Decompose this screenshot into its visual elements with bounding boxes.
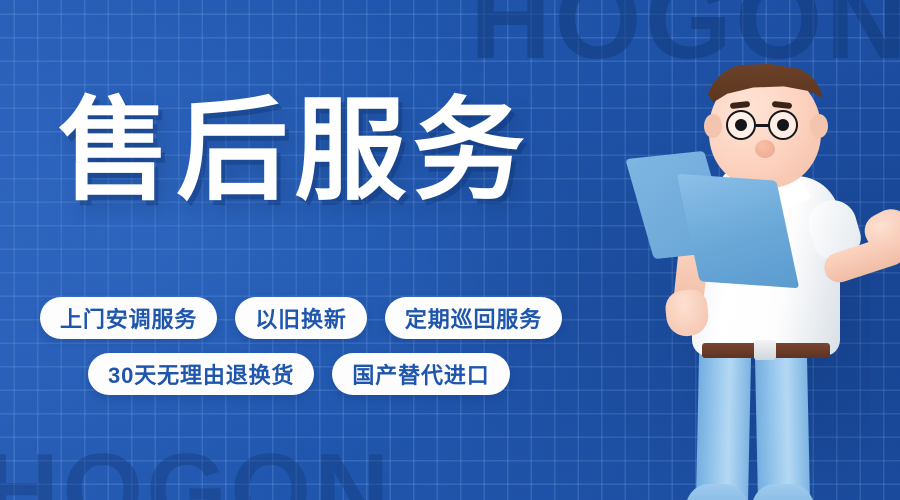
- pill-onsite-install-service[interactable]: 上门安调服务: [40, 297, 217, 339]
- pill-trade-in[interactable]: 以旧换新: [235, 297, 367, 339]
- feature-pill-row-1: 上门安调服务 以旧换新 定期巡回服务: [40, 297, 660, 339]
- pupil-right: [777, 119, 789, 131]
- pill-30-day-returns[interactable]: 30天无理由退换货: [88, 353, 314, 395]
- nose: [755, 140, 775, 158]
- pill-domestic-import-substitute[interactable]: 国产替代进口: [332, 353, 509, 395]
- pupil-left: [735, 119, 747, 131]
- glasses-bridge: [756, 124, 770, 127]
- feature-pill-row-2: 30天无理由退换货 国产替代进口: [40, 353, 660, 395]
- ear-left: [704, 114, 722, 138]
- watermark-bottom-left: HOGON: [0, 449, 393, 500]
- page-title: 售后服务: [58, 92, 531, 211]
- ear-right: [810, 114, 828, 138]
- feature-pill-group: 上门安调服务 以旧换新 定期巡回服务 30天无理由退换货 国产替代进口: [40, 297, 660, 409]
- belt-buckle: [754, 340, 776, 360]
- businessman-illustration: [620, 48, 900, 500]
- pill-regular-patrol-service[interactable]: 定期巡回服务: [385, 297, 562, 339]
- after-sales-service-banner: HOGON HOGON 售后服务 上门安调服务 以旧换新 定期巡回服务 30天无…: [0, 0, 900, 500]
